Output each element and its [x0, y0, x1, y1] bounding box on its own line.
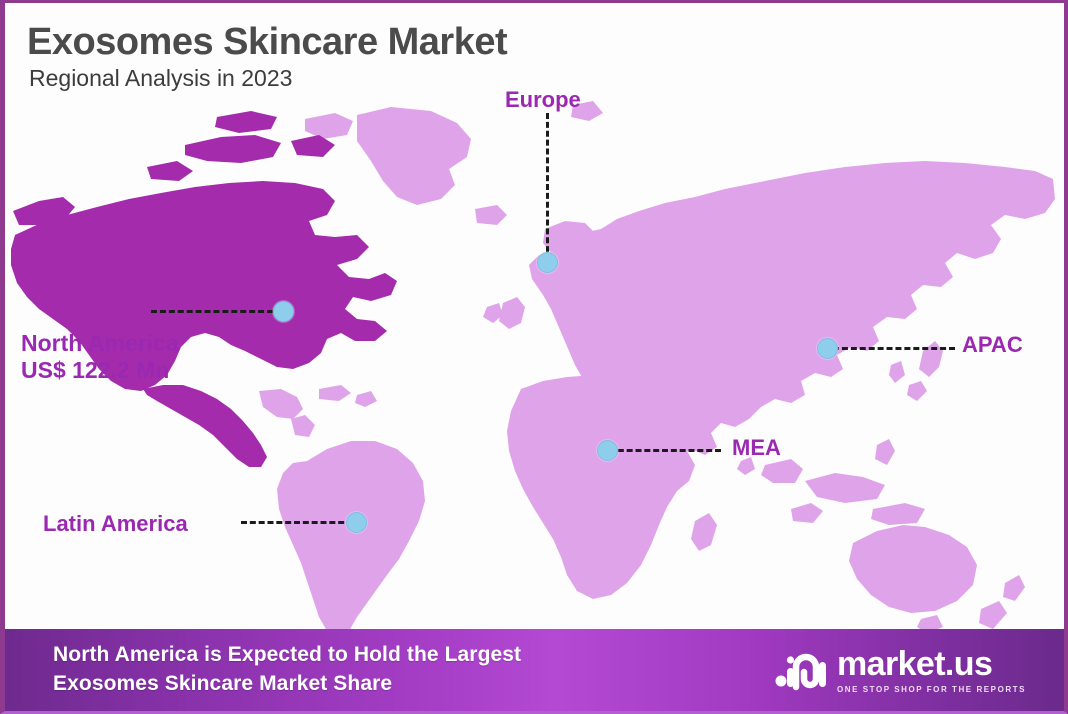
- region-label-mea: MEA: [732, 435, 781, 461]
- brand-logo[interactable]: market.us ONE STOP SHOP FOR THE REPORTS: [774, 647, 1042, 694]
- map-marker-north-america[interactable]: [273, 301, 294, 322]
- leader-line-europe: [546, 113, 549, 261]
- banner-headline: North America is Expected to Hold the La…: [53, 641, 521, 699]
- infographic-root: Exosomes Skincare Market Regional Analys…: [0, 0, 1068, 714]
- banner-headline-line2: Exosomes Skincare Market Share: [53, 670, 521, 699]
- leader-line-latin-america: [241, 521, 353, 524]
- region-label-europe: Europe: [505, 87, 581, 113]
- region-label-north-america: North America US$ 122.2 Mn: [21, 330, 179, 384]
- market-us-logo-icon: [774, 648, 828, 692]
- logo-name: market.us: [837, 647, 1026, 681]
- map-region-north-america-highlight: [11, 111, 397, 467]
- map-marker-apac[interactable]: [817, 338, 838, 359]
- logo-tagline: ONE STOP SHOP FOR THE REPORTS: [837, 685, 1026, 694]
- region-value-north-america: US$ 122.2 Mn: [21, 357, 179, 384]
- region-label-latin-america: Latin America: [43, 511, 188, 537]
- footer-banner: North America is Expected to Hold the La…: [5, 629, 1064, 711]
- region-name-north-america: North America: [21, 330, 179, 357]
- map-marker-latin-america[interactable]: [346, 512, 367, 533]
- leader-line-north-america: [151, 310, 273, 313]
- leader-line-apac: [833, 347, 955, 350]
- map-marker-mea[interactable]: [597, 440, 618, 461]
- logo-wordmark: market.us ONE STOP SHOP FOR THE REPORTS: [837, 647, 1026, 694]
- banner-headline-line1: North America is Expected to Hold the La…: [53, 643, 521, 666]
- map-other-regions: [259, 101, 1055, 629]
- map-marker-europe[interactable]: [537, 252, 558, 273]
- page-subtitle: Regional Analysis in 2023: [29, 65, 292, 92]
- map-canvas: Exosomes Skincare Market Regional Analys…: [5, 3, 1064, 711]
- region-label-apac: APAC: [962, 332, 1023, 358]
- leader-line-mea: [609, 449, 721, 452]
- page-title: Exosomes Skincare Market: [27, 21, 507, 64]
